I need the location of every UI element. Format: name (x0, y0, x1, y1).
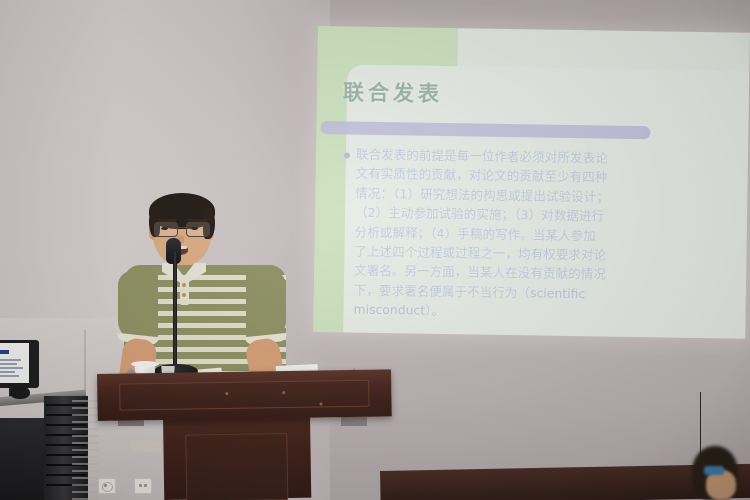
monitor-text-line (0, 371, 15, 373)
slide-body: 联合发表的前提是每一位作者必须对所发表论 文有实质性的贡献，对论文的贡献至少有四… (341, 144, 736, 325)
slide-body-text: 联合发表的前提是每一位作者必须对所发表论 文有实质性的贡献，对论文的贡献至少有四… (353, 145, 609, 324)
slide-line-8-en: scientific (530, 285, 585, 301)
slide-line-9-en: misconduct (353, 302, 425, 318)
presenter-eye-right (191, 227, 198, 230)
podium-front-panel (97, 369, 392, 421)
wall-plate (130, 441, 160, 452)
slide-line-9: misconduct）。 (353, 300, 607, 323)
presentation-photo-scene: 联合发表 联合发表的前提是每一位作者必须对所发表论 文有实质性的贡献，对论文的贡… (0, 0, 750, 500)
podium-stud (282, 391, 285, 394)
podium-front-inset (119, 380, 369, 411)
eyeglass-lens-right (186, 222, 210, 237)
monitor-doc-heading (0, 350, 9, 354)
monitor-text-line (0, 375, 19, 377)
patch-cables (72, 400, 98, 500)
polo-button (182, 293, 186, 297)
microphone-stem (173, 252, 177, 368)
computer-mouse (10, 386, 30, 399)
slide-line-9-cn: ）。 (425, 303, 444, 318)
wall-outlet-right (134, 478, 152, 494)
audience-member-collar (704, 466, 724, 475)
outlet-pin (144, 484, 147, 487)
control-monitor-screen (0, 343, 29, 383)
podium-stud (225, 392, 228, 395)
paper-cup-rim (131, 361, 159, 367)
bullet-dot-icon (344, 152, 350, 158)
presenter (118, 193, 308, 388)
wall-outlet-left (98, 478, 116, 494)
podium-column (163, 415, 311, 500)
presenter-sleeve-right (246, 271, 286, 341)
monitor-text-line (0, 363, 17, 365)
slide-title: 联合发表 (343, 76, 443, 108)
outlet-pin (104, 484, 107, 487)
monitor-text-line (0, 359, 21, 361)
presenter-sleeve-left (118, 271, 158, 341)
podium-column-panel (185, 433, 288, 500)
slide-canvas: 联合发表 联合发表的前提是每一位作者必须对所发表论 文有实质性的贡献，对论文的贡… (313, 26, 750, 339)
slide-line-8-cn: 下，要求署名便属于不当行为（ (354, 282, 530, 300)
polo-button (182, 283, 186, 287)
outlet-pin (139, 484, 142, 487)
podium-stud (319, 402, 322, 405)
presenter-eye-left (161, 227, 168, 230)
eyeglass-bridge (176, 227, 186, 228)
monitor-text-line (0, 367, 23, 369)
projected-slide: 联合发表 联合发表的前提是每一位作者必须对所发表论 文有实质性的贡献，对论文的贡… (313, 26, 750, 343)
